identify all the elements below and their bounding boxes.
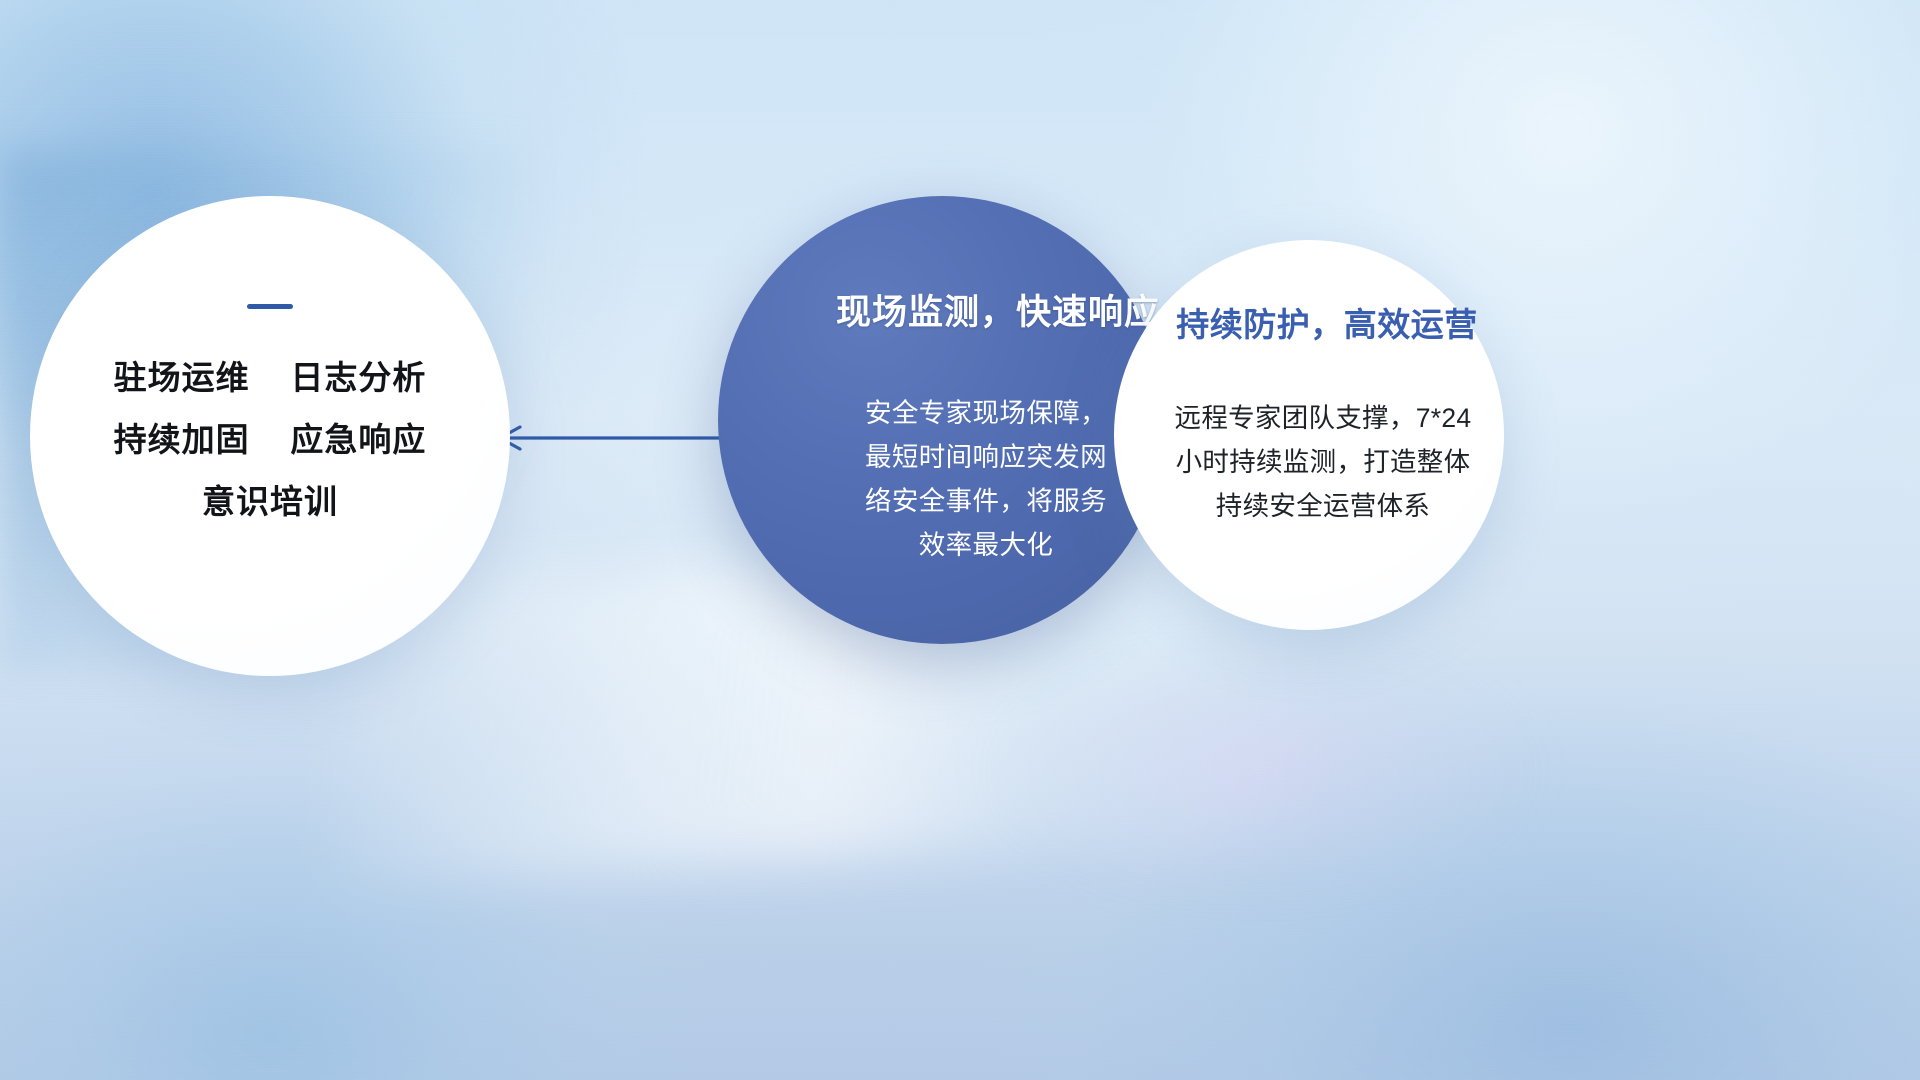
right-circle-body: 远程专家团队支撑，7*24 小时持续监测，打造整体 持续安全运营体系 <box>1147 396 1499 528</box>
list-item: 持续加固 应急响应 <box>114 409 427 471</box>
background-streak-violet <box>980 640 1540 900</box>
left-service-circle[interactable]: 驻场运维 日志分析 持续加固 应急响应 意识培训 <box>30 196 510 676</box>
mid-circle-body: 安全专家现场保障， 最短时间响应突发网 络安全事件，将服务 效率最大化 <box>836 391 1136 567</box>
divider-dash-icon <box>247 304 293 309</box>
list-item: 意识培训 <box>114 471 427 533</box>
mid-onsite-circle[interactable]: 现场监测，快速响应 安全专家现场保障， 最短时间响应突发网 络安全事件，将服务 … <box>718 196 1166 644</box>
right-operations-circle[interactable]: 持续防护，高效运营 远程专家团队支撑，7*24 小时持续监测，打造整体 持续安全… <box>1114 240 1504 630</box>
left-circle-tag-list: 驻场运维 日志分析 持续加固 应急响应 意识培训 <box>114 347 427 533</box>
slide-canvas: 驻场运维 日志分析 持续加固 应急响应 意识培训 现场监测，快速响应 安全专家现… <box>0 0 1920 1080</box>
body-line: 效率最大化 <box>836 523 1136 567</box>
body-line: 远程专家团队支撑，7*24 <box>1147 396 1499 440</box>
mid-circle-title: 现场监测，快速响应 <box>836 284 1160 335</box>
body-line: 最短时间响应突发网 <box>836 435 1136 479</box>
body-line: 持续安全运营体系 <box>1147 484 1499 528</box>
body-line: 小时持续监测，打造整体 <box>1147 440 1499 484</box>
body-line: 安全专家现场保障， <box>836 391 1136 435</box>
list-item: 驻场运维 日志分析 <box>114 347 427 409</box>
right-circle-title: 持续防护，高效运营 <box>1176 298 1478 346</box>
body-line: 络安全事件，将服务 <box>836 479 1136 523</box>
